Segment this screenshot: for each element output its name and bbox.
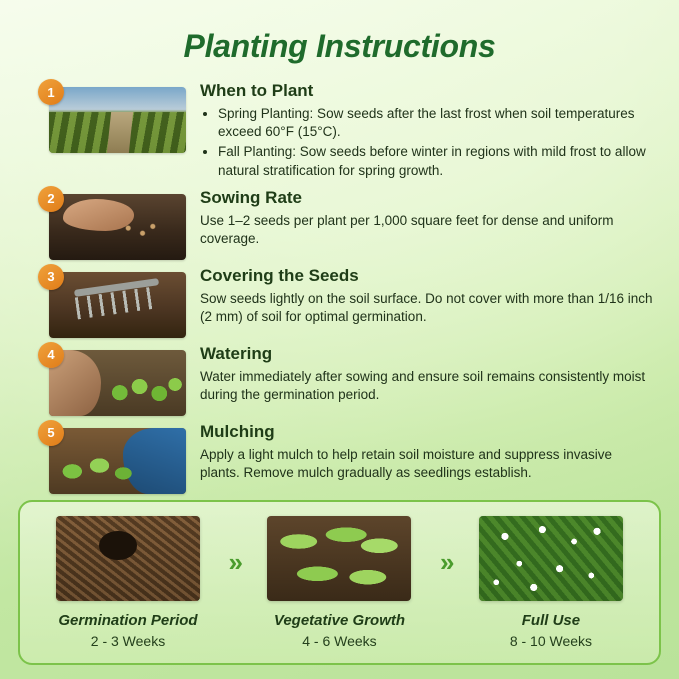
step-3-heading: Covering the Seeds [200,266,653,286]
step-4-heading: Watering [200,344,653,364]
step-2-body: Use 1–2 seeds per plant per 1,000 square… [200,212,653,248]
step-1-text: When to Plant Spring Planting: Sow seeds… [186,79,653,182]
step-4-thumbnail-wrap: 4 [38,342,186,416]
step-3-body: Sow seeds lightly on the soil surface. D… [200,290,653,326]
step-5-text: Mulching Apply a light mulch to help ret… [186,420,653,482]
step-5-heading: Mulching [200,422,653,442]
step-5-body: Apply a light mulch to help retain soil … [200,446,653,482]
seedlings-watering-photo [49,350,186,416]
step-4-number-badge: 4 [38,342,64,368]
timeline-item-vegetative: Vegetative Growth 4 - 6 Weeks [252,516,427,649]
step-4-body: Water immediately after sowing and ensur… [200,368,653,404]
flowering-clover-photo [479,516,623,601]
step-5-thumbnail-wrap: 5 [38,420,186,494]
field-rows-photo [49,87,186,153]
timeline-duration-vegetative: 4 - 6 Weeks [302,633,376,649]
gloved-hand-mulching-photo [49,428,186,494]
timeline-item-germination: Germination Period 2 - 3 Weeks [41,516,216,649]
growth-timeline: Germination Period 2 - 3 Weeks » Vegetat… [18,500,661,665]
step-2-heading: Sowing Rate [200,188,653,208]
step-3: 3 Covering the Seeds Sow seeds lightly o… [38,264,653,338]
steps-list: 1 When to Plant Spring Planting: Sow see… [38,79,653,494]
step-1-bullets: Spring Planting: Sow seeds after the las… [200,105,653,180]
step-1-thumbnail-wrap: 1 [38,79,186,153]
step-5-number-badge: 5 [38,420,64,446]
step-1-number-badge: 1 [38,79,64,105]
step-2-number-badge: 2 [38,186,64,212]
step-3-text: Covering the Seeds Sow seeds lightly on … [186,264,653,326]
timeline-item-full-use: Full Use 8 - 10 Weeks [463,516,638,649]
page-title: Planting Instructions [0,0,679,65]
step-1-bullet-2: Fall Planting: Sow seeds before winter i… [218,143,653,179]
step-3-number-badge: 3 [38,264,64,290]
step-3-thumbnail-wrap: 3 [38,264,186,338]
timeline-label-germination: Germination Period [58,612,197,629]
dark-soil-seed-photo [56,516,200,601]
timeline-duration-germination: 2 - 3 Weeks [91,633,165,649]
step-1: 1 When to Plant Spring Planting: Sow see… [38,79,653,182]
step-4-text: Watering Water immediately after sowing … [186,342,653,404]
step-2: 2 Sowing Rate Use 1–2 seeds per plant pe… [38,186,653,260]
timeline-label-vegetative: Vegetative Growth [274,612,405,629]
step-5: 5 Mulching Apply a light mulch to help r… [38,420,653,494]
step-4: 4 Watering Water immediately after sowin… [38,342,653,416]
step-2-thumbnail-wrap: 2 [38,186,186,260]
timeline-duration-full-use: 8 - 10 Weeks [510,633,592,649]
double-chevron-right-icon-2: » [440,549,450,575]
hand-sowing-seeds-photo [49,194,186,260]
young-seedlings-photo [267,516,411,601]
step-1-bullet-1: Spring Planting: Sow seeds after the las… [218,105,653,141]
double-chevron-right-icon: » [229,549,239,575]
poster-page: Planting Instructions 1 When to Plant Sp… [0,0,679,679]
rake-on-soil-photo [49,272,186,338]
step-1-heading: When to Plant [200,81,653,101]
timeline-label-full-use: Full Use [522,612,580,629]
step-2-text: Sowing Rate Use 1–2 seeds per plant per … [186,186,653,248]
